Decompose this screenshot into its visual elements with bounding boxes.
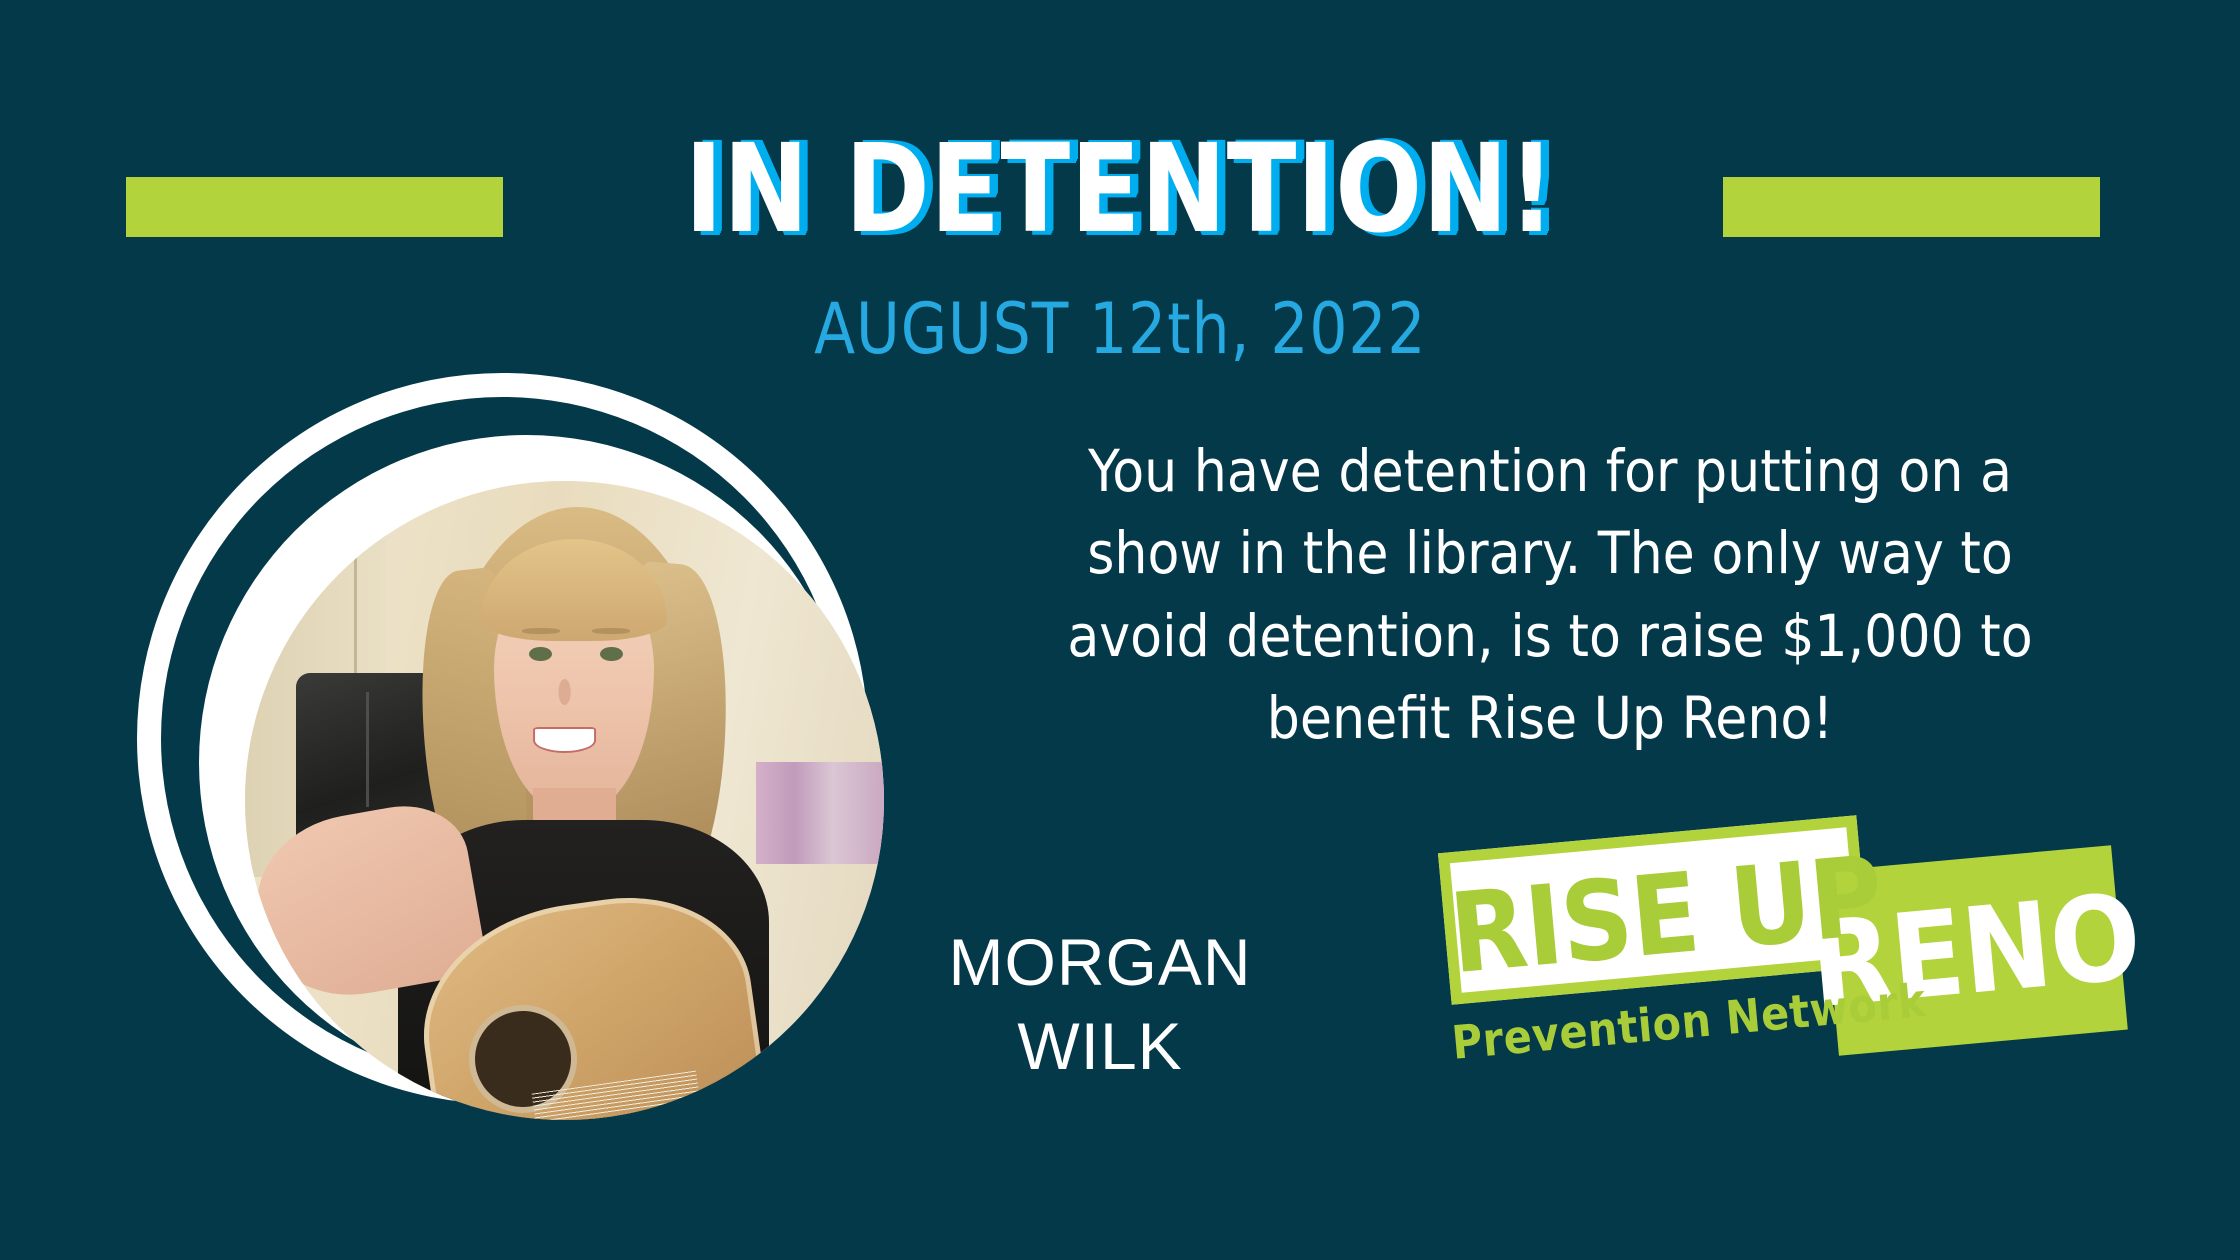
photo-eye-right <box>600 647 623 661</box>
performer-photo <box>245 481 884 1120</box>
photo-eyebrow-right <box>592 628 630 634</box>
performer-portrait-inner-ring <box>199 435 854 1090</box>
headline-container: IN DETENTION! <box>0 128 2240 250</box>
performer-first-name: MORGAN <box>860 920 1340 1004</box>
rise-up-reno-logo: RENO RISE UP Prevention Network <box>1430 810 2130 1100</box>
event-date-container: AUGUST 12th, 2022 <box>0 288 2240 370</box>
photo-amplifier-seam <box>366 692 369 807</box>
performer-name: MORGAN WILK <box>860 920 1340 1089</box>
photo-background-color-strip <box>756 762 884 864</box>
portrait-ring-gap <box>161 397 844 1080</box>
photo-smile <box>533 727 597 753</box>
headline-text: IN DETENTION! <box>685 128 1556 250</box>
event-promo-poster: IN DETENTION! AUGUST 12th, 2022 <box>0 0 2240 1260</box>
photo-nose <box>558 679 571 705</box>
photo-eyebrow-left <box>522 628 560 634</box>
performer-last-name: WILK <box>860 1004 1340 1088</box>
performer-portrait-outer-ring <box>137 373 868 1104</box>
event-description-text: You have detention for putting on a show… <box>1030 430 2070 759</box>
event-date-text: AUGUST 12th, 2022 <box>814 288 1426 370</box>
